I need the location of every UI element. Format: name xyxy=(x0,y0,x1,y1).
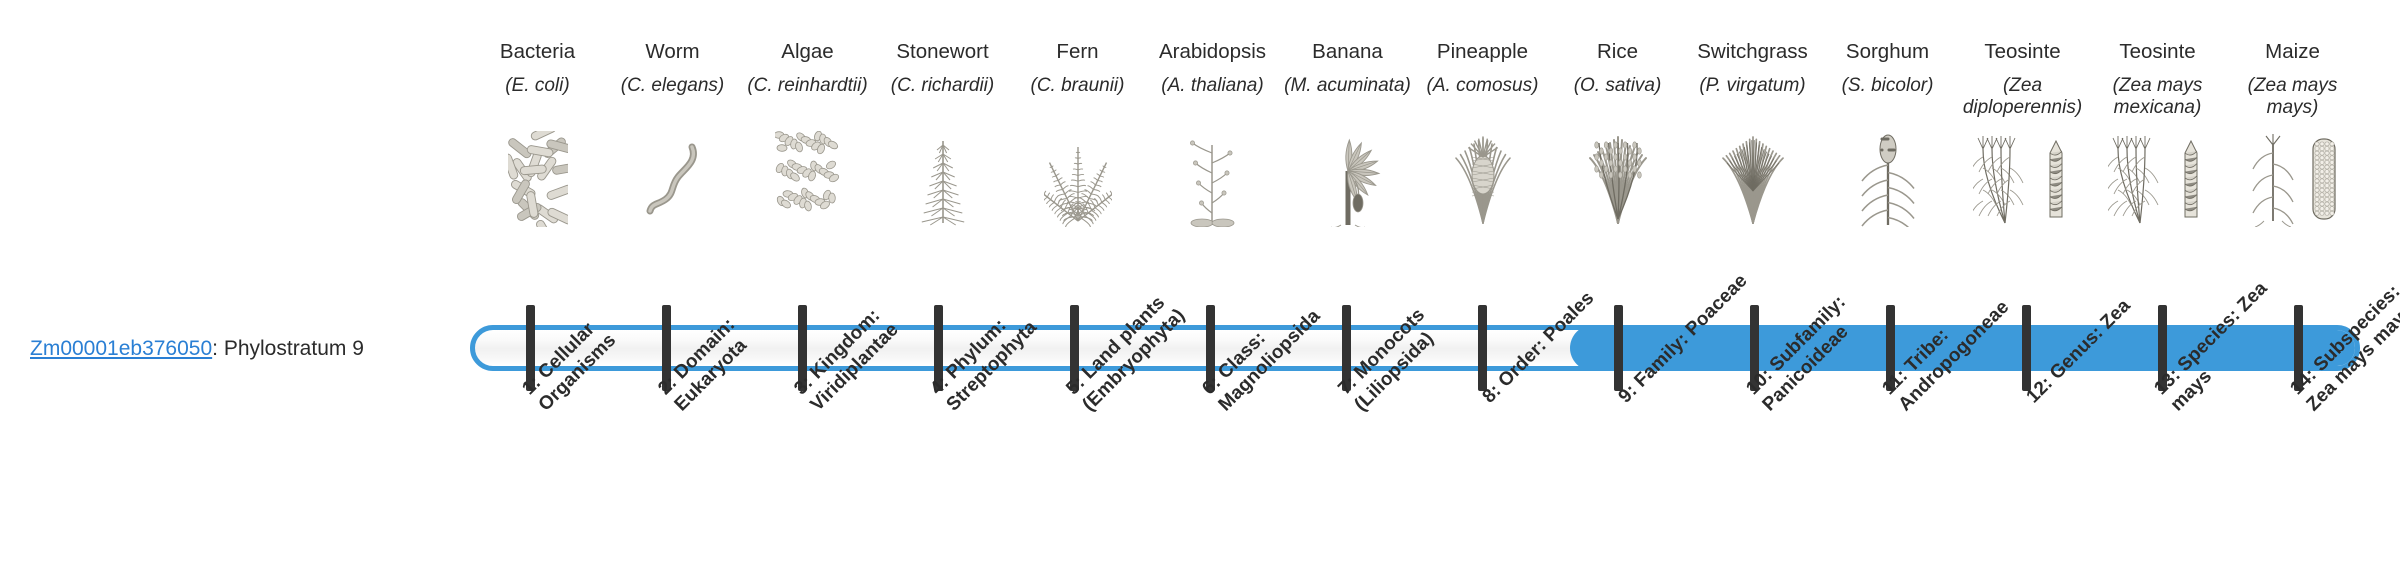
stratum-label-3: 3: Kingdom: Viridiplantae xyxy=(790,260,947,417)
gene-phylostratum-label: Zm00001eb376050: Phylostratum 9 xyxy=(30,336,364,361)
stratum-label-7: 7: Monocots (Liliopsida) xyxy=(1334,260,1491,417)
gene-label-separator: : xyxy=(212,337,224,360)
phylostratum-value-text: Phylostratum 9 xyxy=(224,337,364,360)
stratum-label-10: 10: Subfamily: Panicoideae xyxy=(1742,260,1899,417)
stratum-label-5: 5: Land plants (Embryophyta) xyxy=(1062,260,1219,417)
stratum-label-4: 4: Phylum: Streptophyta xyxy=(926,260,1083,417)
stratum-label-11: 11: Tribe: Andropogoneae xyxy=(1878,260,2035,417)
phylostratum-timeline: Bacteria(E. coli)Worm(C. elegans)Algae(C… xyxy=(0,0,2400,580)
stratum-label-12: 12: Genus: Zea xyxy=(2022,268,2162,408)
stratum-label-13: 13: Species: Zea mays xyxy=(2150,260,2307,417)
stratum-label-group: 1: Cellular Organisms2: Domain: Eukaryot… xyxy=(0,0,2400,580)
stratum-label-6: 6: Class: Magnoliopsida xyxy=(1198,260,1355,417)
gene-id-link[interactable]: Zm00001eb376050 xyxy=(30,337,212,360)
stratum-label-1: 1: Cellular Organisms xyxy=(518,260,675,417)
stratum-label-14: 14: Subspecies: Zea mays mays xyxy=(2286,260,2400,417)
stratum-label-8: 8: Order: Poales xyxy=(1478,268,1618,408)
stratum-label-9: 9: Family: Poaceae xyxy=(1614,268,1754,408)
stratum-label-2: 2: Domain: Eukaryota xyxy=(654,260,811,417)
